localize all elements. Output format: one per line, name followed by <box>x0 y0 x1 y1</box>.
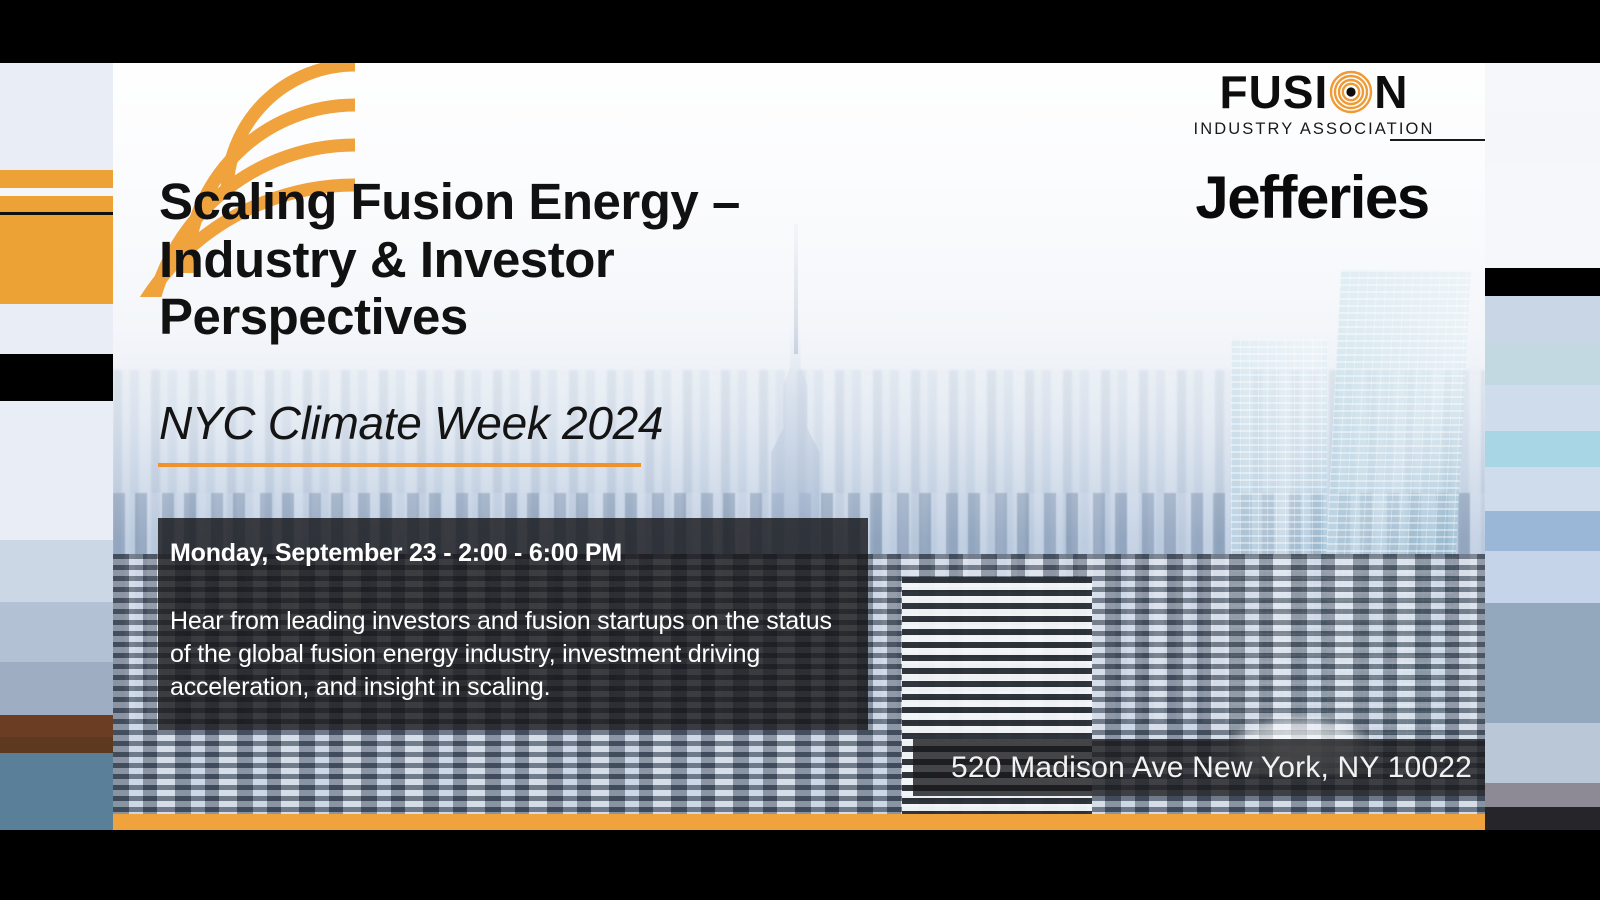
edge-band <box>0 602 113 662</box>
fia-wordmark: FUSI N <box>1189 69 1439 115</box>
edge-band <box>1485 431 1600 467</box>
event-poster: Scaling Fusion Energy – Industry & Inves… <box>113 63 1485 830</box>
venue-address-panel: 520 Madison Ave New York, NY 10022 <box>913 739 1485 796</box>
edge-band <box>0 304 113 354</box>
left-edge-artifact-bands <box>0 63 113 830</box>
page-title: Scaling Fusion Energy – Industry & Inves… <box>159 173 819 346</box>
edge-band <box>0 215 113 304</box>
edge-band <box>1485 296 1600 343</box>
edge-band <box>1485 467 1600 511</box>
edge-band <box>1485 385 1600 431</box>
edge-band <box>1485 723 1600 783</box>
fia-subtitle: INDUSTRY ASSOCIATION <box>1189 120 1439 139</box>
edge-band <box>0 63 113 170</box>
edge-band <box>0 196 113 212</box>
edge-band <box>1485 603 1600 723</box>
edge-band <box>1485 551 1600 603</box>
fusion-industry-association-logo: FUSI N INDUSTRY ASSOCIATION <box>1189 69 1439 139</box>
edge-band <box>0 188 113 196</box>
event-description: Hear from leading investors and fusion s… <box>170 605 858 704</box>
fusion-ring-icon <box>1329 70 1373 114</box>
venue-address: 520 Madison Ave New York, NY 10022 <box>951 751 1472 785</box>
sponsor-logo-jefferies: Jefferies <box>1179 168 1445 228</box>
edge-band <box>0 540 113 602</box>
edge-band <box>0 170 113 188</box>
fia-wordmark-after: N <box>1374 69 1408 115</box>
edge-band <box>1485 511 1600 551</box>
edge-band <box>0 354 113 401</box>
edge-band <box>1485 63 1600 111</box>
edge-band <box>1485 111 1600 163</box>
edge-band <box>0 753 113 830</box>
edge-band <box>0 401 113 540</box>
edge-band <box>1485 343 1600 385</box>
edge-band <box>0 662 113 715</box>
logo-horizontal-rule <box>1390 139 1485 141</box>
edge-band <box>0 715 113 737</box>
event-details-panel: Monday, September 23 - 2:00 - 6:00 PM He… <box>158 518 868 730</box>
edge-band <box>0 737 113 753</box>
bottom-orange-bar <box>113 814 1485 830</box>
right-edge-artifact-bands <box>1485 63 1600 830</box>
orange-divider <box>158 463 641 467</box>
event-datetime: Monday, September 23 - 2:00 - 6:00 PM <box>170 538 858 568</box>
edge-band <box>1485 807 1600 830</box>
edge-band <box>1485 163 1600 268</box>
fia-wordmark-before: FUSI <box>1219 69 1328 115</box>
right-edge-black-band <box>1485 268 1600 296</box>
event-subtitle: NYC Climate Week 2024 <box>159 396 663 450</box>
edge-band <box>1485 783 1600 807</box>
screenshot-root: Scaling Fusion Energy – Industry & Inves… <box>0 0 1600 900</box>
